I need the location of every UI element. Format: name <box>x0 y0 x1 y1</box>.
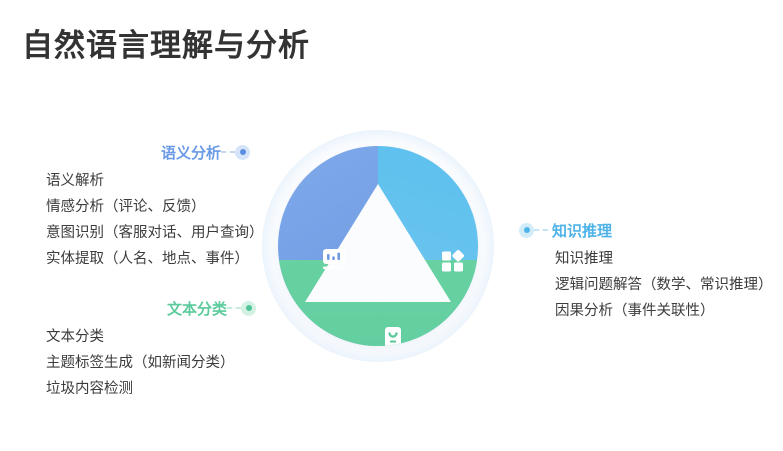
connector-line-knowledge <box>534 229 548 231</box>
connector-line-classification <box>227 307 241 309</box>
apps-grid-icon <box>438 246 468 276</box>
list-item: 意图识别（客服对话、用户查询） <box>46 220 264 246</box>
classification-heading-row: 文本分类 <box>46 297 256 319</box>
list-item: 情感分析（评论、反馈） <box>46 194 264 220</box>
semantic-heading: 语义分析 <box>161 142 221 163</box>
document-face-icon <box>378 323 408 346</box>
page-title: 自然语言理解与分析 <box>22 20 310 65</box>
knowledge-heading-row: 知识推理 <box>519 219 769 241</box>
connector-dot-knowledge[interactable] <box>519 223 534 238</box>
list-item: 因果分析（事件关联性） <box>555 298 769 324</box>
list-item: 垃圾内容检测 <box>46 376 256 402</box>
diagram-circle <box>278 146 478 346</box>
list-item: 语义解析 <box>46 168 264 194</box>
connector-line-semantic <box>221 151 235 153</box>
knowledge-heading: 知识推理 <box>552 220 612 241</box>
semantic-heading-row: 语义分析 <box>46 141 250 163</box>
block-semantic-analysis: 语义分析 语义解析 情感分析（评论、反馈） 意图识别（客服对话、用户查询） 实体… <box>46 141 264 272</box>
block-knowledge-reasoning: 知识推理 知识推理 逻辑问题解答（数学、常识推理） 因果分析（事件关联性） <box>519 219 769 324</box>
list-item: 主题标签生成（如新闻分类） <box>46 350 256 376</box>
list-item: 文本分类 <box>46 324 256 350</box>
block-text-classification: 文本分类 文本分类 主题标签生成（如新闻分类） 垃圾内容检测 <box>46 297 256 402</box>
classification-heading: 文本分类 <box>167 298 227 319</box>
list-item: 逻辑问题解答（数学、常识推理） <box>555 272 769 298</box>
list-item: 实体提取（人名、地点、事件） <box>46 246 264 272</box>
connector-dot-classification[interactable] <box>241 301 256 316</box>
connector-dot-semantic[interactable] <box>235 145 250 160</box>
list-item: 知识推理 <box>555 246 769 272</box>
chart-monitor-icon <box>319 245 349 275</box>
semantic-item-list: 语义解析 情感分析（评论、反馈） 意图识别（客服对话、用户查询） 实体提取（人名… <box>46 168 264 272</box>
classification-item-list: 文本分类 主题标签生成（如新闻分类） 垃圾内容检测 <box>46 324 256 402</box>
central-diagram <box>262 130 494 362</box>
knowledge-item-list: 知识推理 逻辑问题解答（数学、常识推理） 因果分析（事件关联性） <box>555 246 769 324</box>
